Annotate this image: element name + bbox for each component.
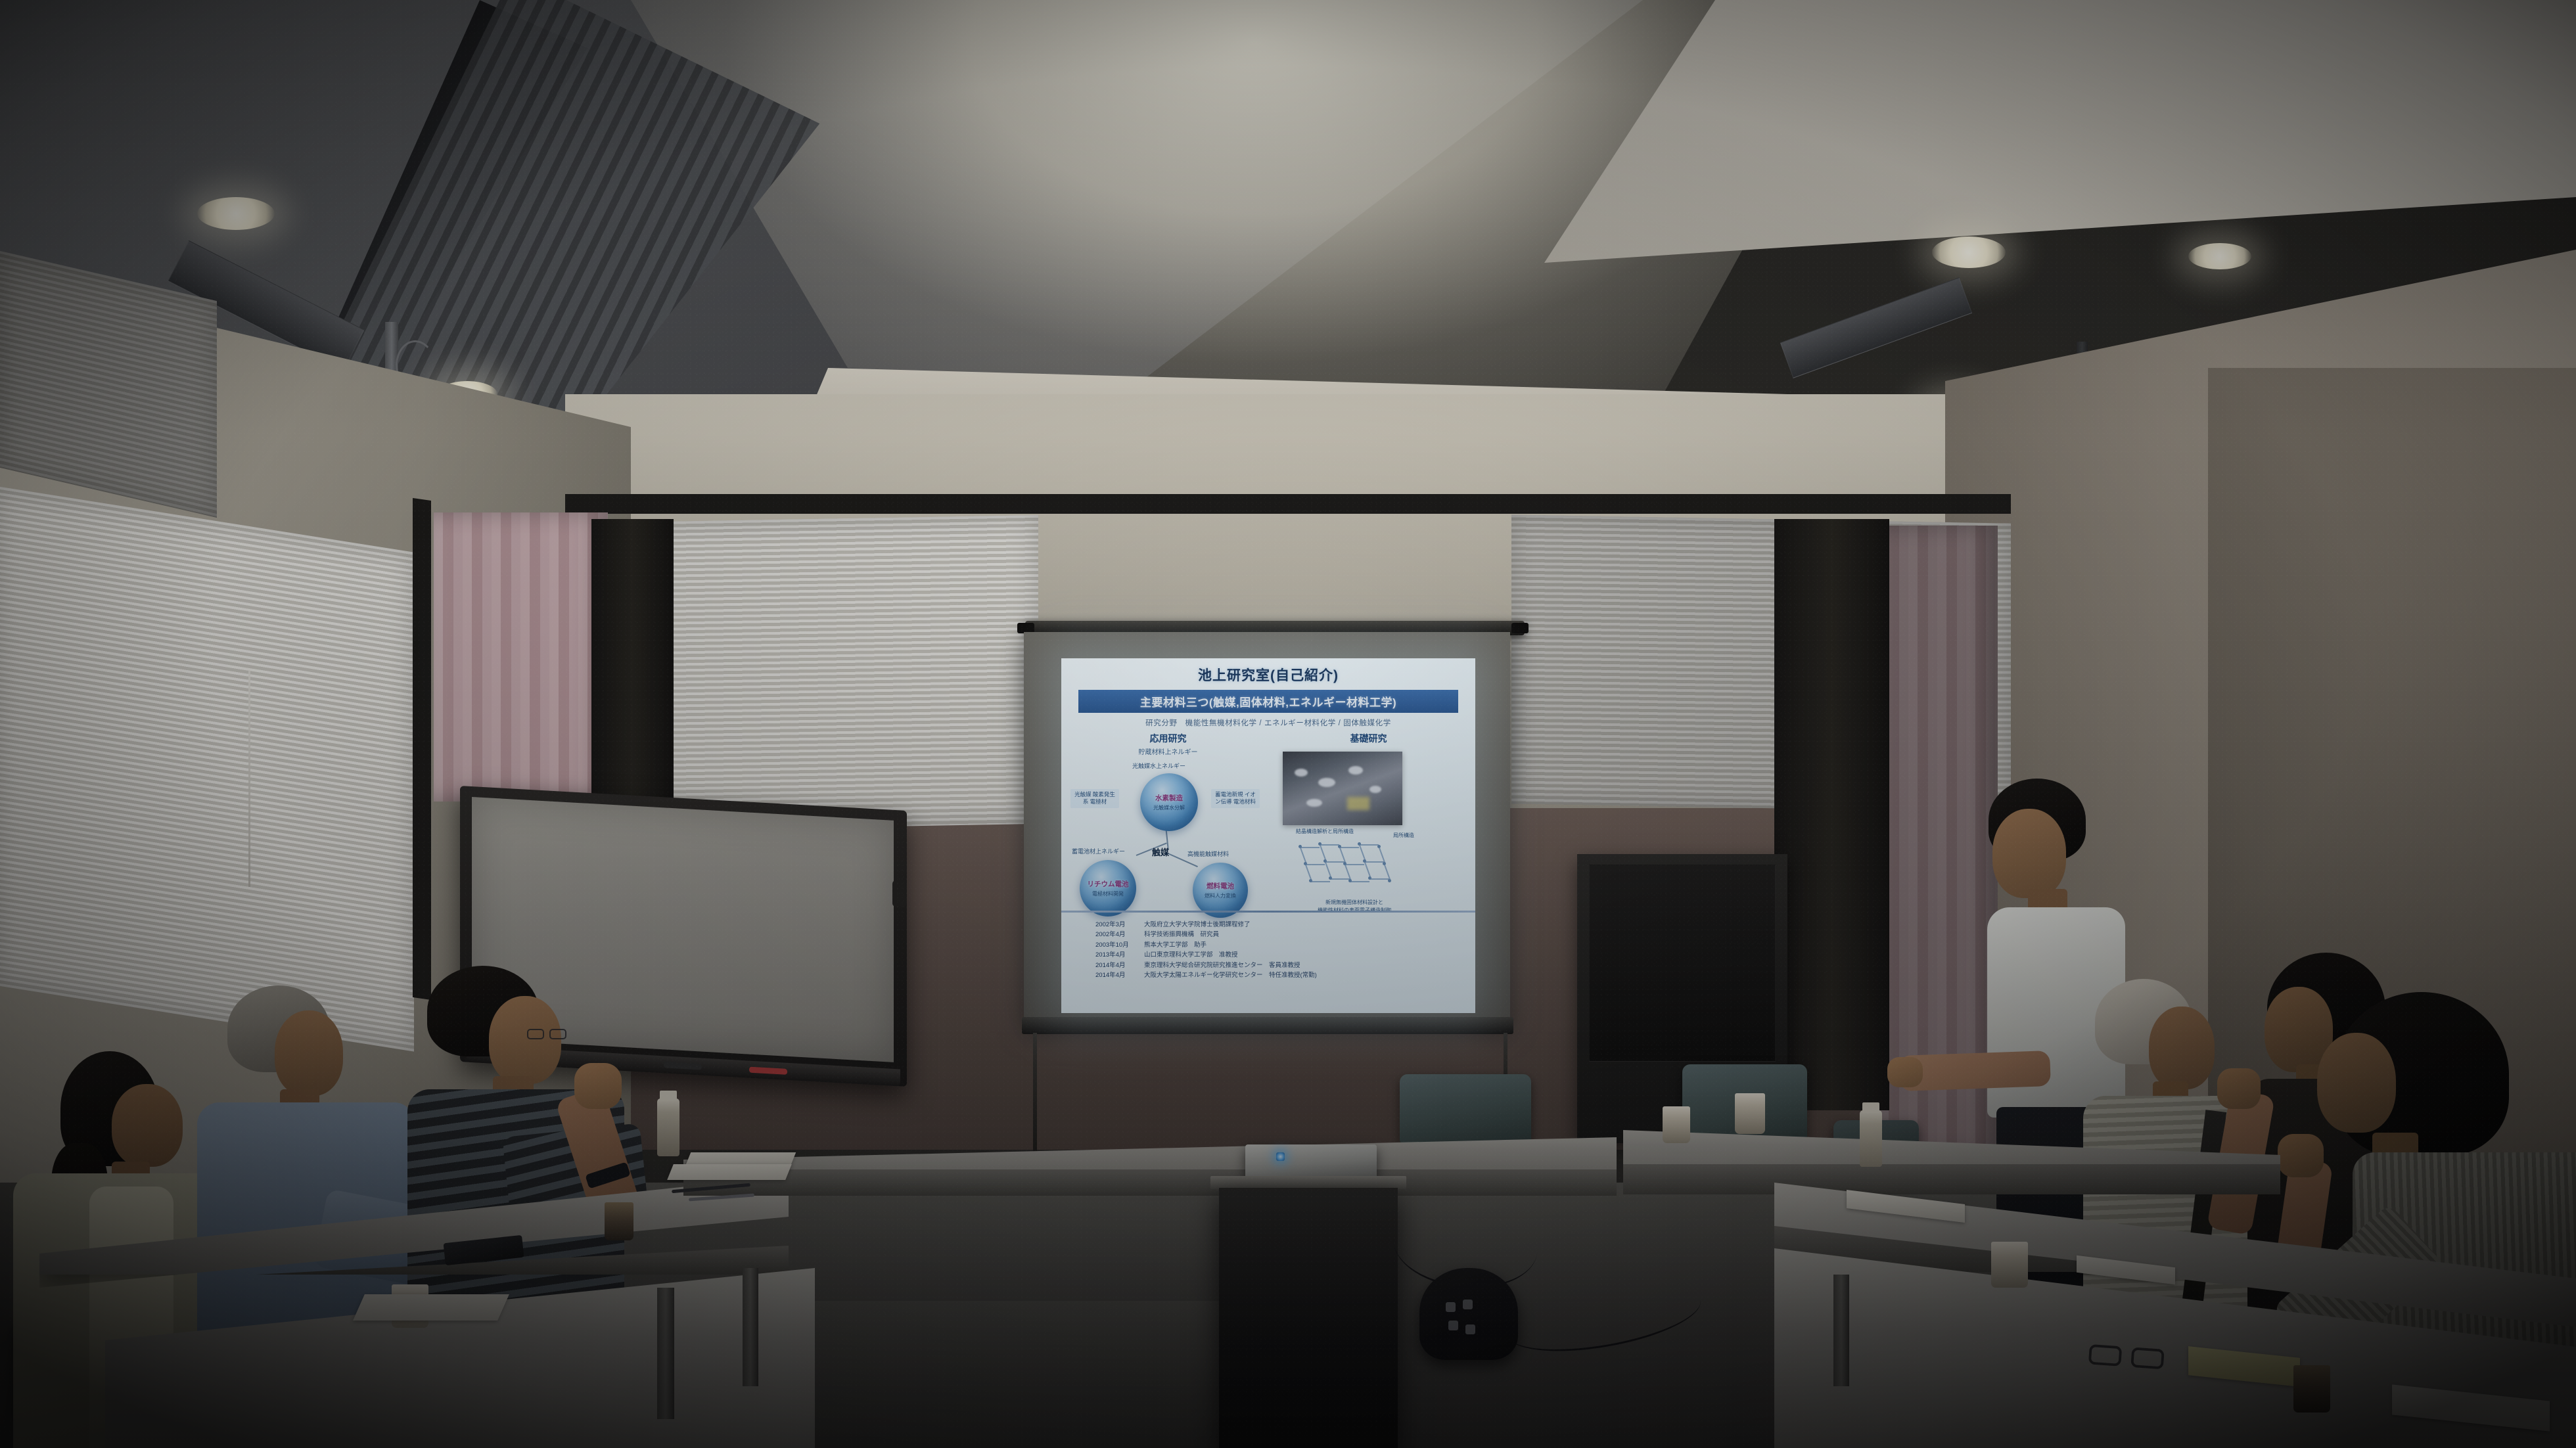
backpack[interactable] bbox=[1419, 1268, 1518, 1360]
cv-row: 2014年4月 大阪大学太陽エネルギー化学研究センター 特任准教授(常勤) bbox=[1095, 970, 1463, 980]
cv-table: 2002年3月 大阪府立大学大学院博士後期課程修了 2002年4月 科学技術振興… bbox=[1061, 915, 1475, 1013]
crystal-lattice-figure bbox=[1295, 836, 1406, 896]
cv-description: 東京理科大学総合研究院研究推進センター 客員准教授 bbox=[1144, 961, 1300, 970]
applied-heading: 応用研究 bbox=[1068, 732, 1268, 745]
sphere-caption: 光触媒水上ネルギー bbox=[1132, 761, 1185, 770]
cv-description: 科学技術振興機構 研究員 bbox=[1144, 930, 1219, 939]
head bbox=[112, 1084, 183, 1167]
cv-row: 2014年4月 東京理科大学総合研究院研究推進センター 客員准教授 bbox=[1095, 961, 1463, 970]
paper-cup[interactable] bbox=[1663, 1106, 1690, 1143]
diagram-center-node: 触媒 bbox=[1152, 846, 1169, 858]
sphere-main-label: リチウム電池 bbox=[1088, 879, 1129, 889]
cv-date: 2002年3月 bbox=[1095, 920, 1144, 930]
bottle-cap bbox=[1862, 1102, 1879, 1113]
seminar-room-scene: 池上研究室(自己紹介) 主要材料三つ(触媒,固体材料,エネルギー材料工学) 研究… bbox=[0, 0, 2576, 1448]
cv-description: 山口東京理科大学工学部 准教授 bbox=[1144, 950, 1238, 960]
hand bbox=[2278, 1134, 2324, 1177]
water-bottle[interactable] bbox=[657, 1098, 679, 1156]
downlight bbox=[1932, 237, 2006, 268]
cv-date: 2002年4月 bbox=[1095, 930, 1144, 939]
pointing-hand bbox=[1887, 1057, 1923, 1087]
marker-black[interactable] bbox=[664, 1062, 702, 1070]
blind-cord bbox=[248, 670, 250, 887]
sphere-main-label: 燃料電池 bbox=[1207, 881, 1234, 891]
slide-keywords: 研究分野 機能性無機材料化学 / エネルギー材料化学 / 固体触媒化学 bbox=[1061, 717, 1475, 728]
paper-cup[interactable] bbox=[605, 1202, 633, 1240]
cv-row: 2002年3月 大阪府立大学大学院博士後期課程修了 bbox=[1095, 920, 1463, 930]
sphere-caption: 高機能触媒材料 bbox=[1187, 849, 1229, 858]
table-leg bbox=[1833, 1275, 1849, 1386]
lab-photo bbox=[1283, 752, 1402, 825]
curtain-blackout-right bbox=[1774, 519, 1889, 1110]
downlight bbox=[197, 197, 275, 230]
window-header bbox=[565, 494, 2011, 514]
head bbox=[1992, 809, 2066, 898]
lattice-label: 結晶構造解析と局所構造 bbox=[1296, 828, 1354, 835]
av-cart bbox=[1219, 1188, 1398, 1448]
projector-power-indicator bbox=[1276, 1152, 1285, 1161]
head bbox=[275, 1010, 343, 1096]
projected-slide: 池上研究室(自己紹介) 主要材料三つ(触媒,固体材料,エネルギー材料工学) 研究… bbox=[1061, 658, 1475, 1013]
screen-support-left bbox=[1033, 1033, 1037, 1164]
cv-description: 熊本大学工学部 助手 bbox=[1144, 940, 1207, 950]
paper-cup[interactable] bbox=[2293, 1365, 2330, 1413]
hand bbox=[2217, 1068, 2261, 1109]
av-cart-top-shelf bbox=[1210, 1176, 1406, 1189]
table-leg bbox=[657, 1288, 674, 1419]
sphere-sub-label: 燃料人力変換 bbox=[1205, 892, 1236, 899]
cv-description: 大阪大学太陽エネルギー化学研究センター 特任准教授(常勤) bbox=[1144, 970, 1317, 980]
table-projector bbox=[1245, 1144, 1377, 1179]
applied-subheading: 貯蔵材料上ネルギー bbox=[1068, 746, 1268, 756]
bottle-cap bbox=[660, 1091, 677, 1101]
air-vent bbox=[1780, 277, 1972, 378]
cv-date: 2014年4月 bbox=[1095, 961, 1144, 970]
water-bottle[interactable] bbox=[1860, 1110, 1882, 1167]
tag-text: 蓄電池新規 イオン伝導 電池材料 bbox=[1215, 791, 1256, 805]
table-leg bbox=[743, 1268, 758, 1386]
hand bbox=[574, 1063, 622, 1109]
cv-date: 2014年4月 bbox=[1095, 970, 1144, 980]
sphere-sub-label: 光触媒水分解 bbox=[1153, 804, 1185, 811]
slide-banner: 主要材料三つ(触媒,固体材料,エネルギー材料工学) bbox=[1078, 690, 1458, 713]
basic-research-figures: 結晶構造解析と局所構造 bbox=[1268, 746, 1469, 911]
cv-row: 2013年4月 山口東京理科大学工学部 准教授 bbox=[1095, 950, 1463, 960]
tag-text: 光触媒 酸素発生系 電極材 bbox=[1074, 791, 1115, 805]
diagram-sphere-fuelcell: 燃料電池 燃料人力変換 bbox=[1193, 863, 1248, 918]
diagram-sphere-hydrogen: 水素製造 光触媒水分解 bbox=[1140, 773, 1198, 831]
screen-weight-bar bbox=[1022, 1017, 1513, 1034]
cv-date: 2013年4月 bbox=[1095, 950, 1144, 960]
head bbox=[489, 996, 561, 1084]
slide-divider bbox=[1061, 911, 1475, 913]
paper-cup[interactable] bbox=[1991, 1242, 2028, 1288]
window-blinds-left bbox=[0, 486, 414, 1051]
paper-cup[interactable] bbox=[1735, 1093, 1765, 1134]
cv-row: 2002年4月 科学技術振興機構 研究員 bbox=[1095, 930, 1463, 939]
screen-roller-cap-right bbox=[1511, 623, 1529, 633]
sphere-sub-label: 電極材料開発 bbox=[1092, 890, 1124, 897]
whiteboard-side-knob bbox=[892, 880, 907, 907]
slide-column-basic: 基礎研究 結晶構造解析と局所構造 bbox=[1268, 732, 1469, 920]
head bbox=[2149, 1007, 2215, 1089]
table-center-edge bbox=[683, 1169, 1617, 1196]
slide-columns: 応用研究 貯蔵材料上ネルギー 触媒 水素製造 光触媒水分解 光触媒水上ネルギー bbox=[1061, 732, 1475, 920]
basic-heading: 基礎研究 bbox=[1268, 732, 1469, 745]
handout-papers[interactable] bbox=[667, 1164, 792, 1180]
catalysis-diagram: 触媒 水素製造 光触媒水分解 光触媒水上ネルギー リチウム電池 電極材料開発 蓄… bbox=[1068, 756, 1268, 920]
cv-row: 2003年10月 熊本大学工学部 助手 bbox=[1095, 940, 1463, 950]
sphere-caption: 蓄電池材上ネルギー bbox=[1072, 847, 1125, 855]
sphere-main-label: 水素製造 bbox=[1155, 793, 1183, 803]
cv-description: 大阪府立大学大学院博士後期課程修了 bbox=[1144, 920, 1251, 930]
av-rack-speaker bbox=[1589, 865, 1776, 1062]
window-mullion bbox=[413, 498, 431, 1000]
chair-empty[interactable] bbox=[1400, 1074, 1531, 1143]
notebook[interactable] bbox=[353, 1294, 509, 1321]
table-right-back-edge bbox=[1623, 1164, 2280, 1194]
slide-column-applied: 応用研究 貯蔵材料上ネルギー 触媒 水素製造 光触媒水分解 光触媒水上ネルギー bbox=[1068, 732, 1268, 920]
cv-date: 2003年10月 bbox=[1095, 940, 1144, 950]
curtain-left bbox=[434, 512, 608, 802]
downlight bbox=[2188, 243, 2251, 269]
lattice-side-label: 局所構造 bbox=[1393, 832, 1414, 839]
diagram-tag-right: 蓄電池新規 イオン伝導 電池材料 bbox=[1211, 789, 1260, 808]
diagram-sphere-battery: リチウム電池 電極材料開発 bbox=[1080, 860, 1136, 916]
marker-red[interactable] bbox=[749, 1067, 787, 1075]
diagram-tag-left: 光触媒 酸素発生系 電極材 bbox=[1070, 789, 1119, 808]
head bbox=[2317, 1033, 2396, 1133]
slide-title: 池上研究室(自己紹介) bbox=[1061, 665, 1475, 685]
